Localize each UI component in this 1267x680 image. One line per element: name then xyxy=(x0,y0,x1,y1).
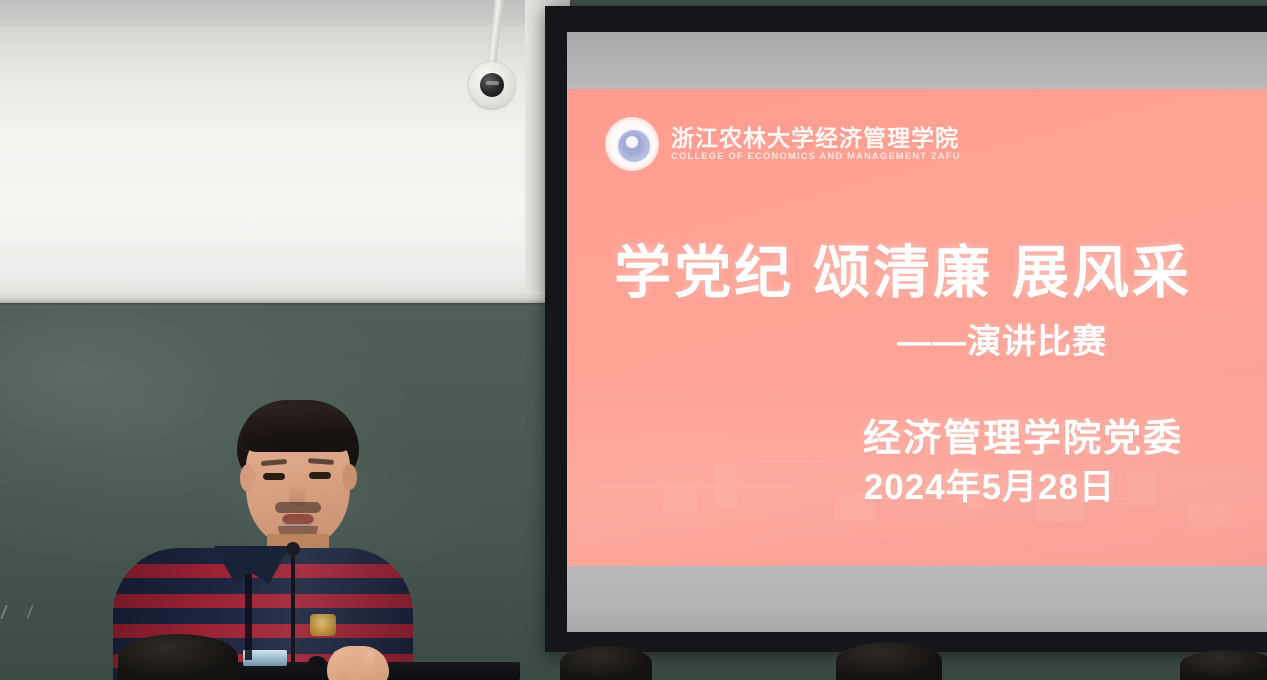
presenter-eye-right xyxy=(309,472,331,479)
logo-chinese-name: 浙江农林大学经济管理学院 xyxy=(671,126,961,150)
microphone-icon xyxy=(286,542,300,556)
podium-knob xyxy=(308,656,326,670)
logo-english-name: COLLEGE OF ECONOMICS AND MANAGEMENT ZAFU xyxy=(671,151,961,162)
presenter-hair-front xyxy=(242,404,354,452)
projection-screen-frame: 浙江农林大学经济管理学院 COLLEGE OF ECONOMICS AND MA… xyxy=(545,6,1267,652)
chalk-mark xyxy=(0,605,34,619)
ceiling-speaker-icon xyxy=(469,62,515,108)
university-crest-emblem-icon xyxy=(605,117,659,171)
slide-organization: 经济管理学院党委 xyxy=(863,407,1183,462)
presenter-eye-left xyxy=(263,473,285,480)
letterbox-top xyxy=(567,32,1267,89)
ceiling-band xyxy=(0,0,570,26)
audience-head xyxy=(560,646,652,680)
audience-head xyxy=(1180,650,1267,680)
slide-logo-lockup: 浙江农林大学经济管理学院 COLLEGE OF ECONOMICS AND MA… xyxy=(605,117,961,171)
presenter-ear-right xyxy=(342,464,357,490)
presenter-hand xyxy=(327,646,389,680)
presenter-placket xyxy=(245,574,252,660)
projection-screen-surface: 浙江农林大学经济管理学院 COLLEGE OF ECONOMICS AND MA… xyxy=(567,32,1267,632)
classroom-wall xyxy=(0,0,570,302)
slide-date: 2024年5月28日 xyxy=(864,459,1115,510)
presentation-slide: 浙江农林大学经济管理学院 COLLEGE OF ECONOMICS AND MA… xyxy=(567,89,1267,566)
presenter-mustache xyxy=(275,502,321,513)
slide-subtitle: ——演讲比赛 xyxy=(897,314,1107,363)
lecture-hall-scene: 浙江农林大学经济管理学院 COLLEGE OF ECONOMICS AND MA… xyxy=(0,0,1267,680)
audience-head xyxy=(836,642,942,680)
audience-head xyxy=(118,634,238,680)
microphone-stand xyxy=(291,550,295,674)
presenter-ear-left xyxy=(240,464,256,492)
slide-title: 学党纪 颂清廉 展风采 xyxy=(567,227,1239,309)
presenter-chest-emblem-icon xyxy=(310,614,336,636)
